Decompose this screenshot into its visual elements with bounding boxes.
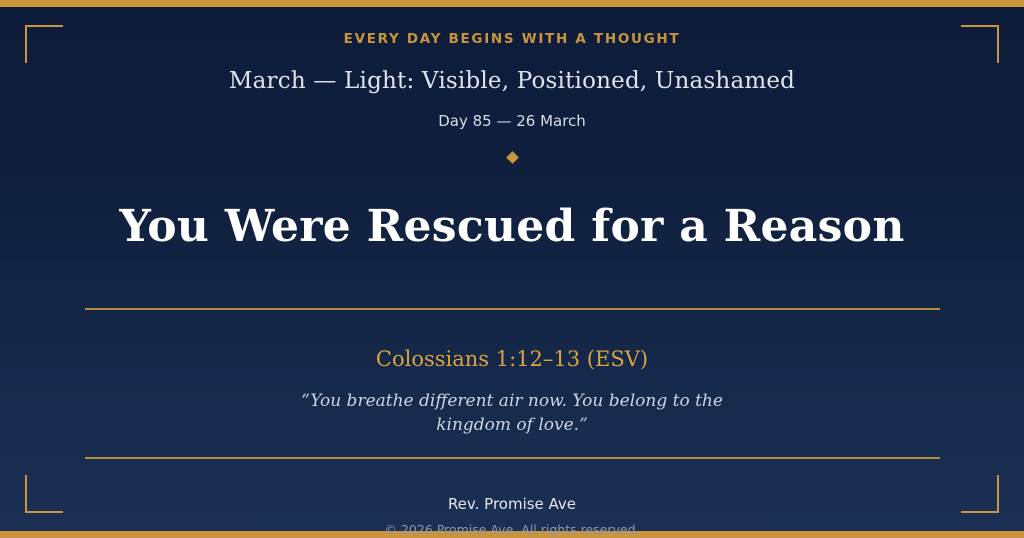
divider-top — [85, 308, 940, 310]
diamond-ornament-icon — [506, 151, 519, 164]
divider-bottom — [85, 457, 940, 459]
scripture-quote: “You breathe different air now. You belo… — [292, 389, 732, 437]
author-name: Rev. Promise Ave — [448, 497, 576, 512]
card-content: EVERY DAY BEGINS WITH A THOUGHT March — … — [0, 0, 1024, 538]
eyebrow-tagline: EVERY DAY BEGINS WITH A THOUGHT — [344, 33, 681, 47]
scripture-reference: Colossians 1:12–13 (ESV) — [376, 349, 648, 370]
page-title: You Were Rescued for a Reason — [59, 203, 964, 251]
series-subtitle: March — Light: Visible, Positioned, Unas… — [229, 69, 795, 94]
day-label: Day 85 — 26 March — [438, 114, 586, 129]
devotional-card: EVERY DAY BEGINS WITH A THOUGHT March — … — [0, 0, 1024, 538]
copyright-notice: © 2026 Promise Ave. All rights reserved. — [385, 524, 640, 537]
